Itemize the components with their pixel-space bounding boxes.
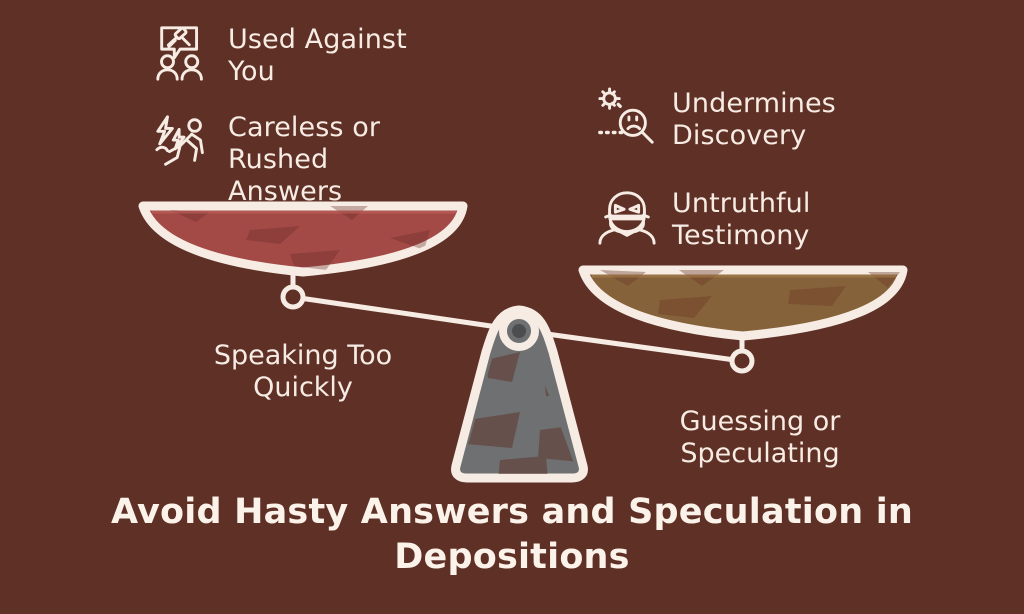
label-guessing-or-speculating: Guessing or Speculating: [630, 406, 890, 471]
right-pan-bowl: [583, 270, 903, 336]
fulcrum-pivot-hole: [512, 324, 526, 338]
running-person-lightning-icon: [152, 110, 214, 172]
right-scale-pan: [583, 268, 903, 336]
right-pan-texture: [600, 268, 900, 318]
left-pan-texture: [170, 206, 430, 270]
page-title: Avoid Hasty Answers and Speculation in D…: [0, 490, 1024, 580]
fulcrum-texture: [466, 352, 586, 480]
item-untruthful-testimony: Untruthful Testimony: [596, 186, 811, 252]
masked-angry-person-icon: [596, 186, 658, 248]
label-speaking-too-quickly: Speaking Too Quickly: [178, 340, 428, 405]
item-label: Used Against You: [228, 22, 407, 88]
item-label: Careless or Rushed Answers: [228, 110, 380, 208]
item-label: Undermines Discovery: [672, 86, 836, 152]
left-pan-bowl: [143, 206, 463, 272]
item-label: Untruthful Testimony: [672, 186, 811, 252]
left-scale-pan: [143, 206, 463, 272]
fulcrum-body: [456, 310, 584, 478]
item-undermines-discovery: Undermines Discovery: [596, 86, 836, 152]
infographic-canvas: Used Against You Careless or Rushed Answ…: [0, 0, 1024, 614]
left-pivot-ring: [283, 287, 303, 307]
right-pivot-ring: [732, 351, 752, 371]
magnifier-sad-face-germ-icon: [596, 86, 658, 148]
beam-right-arm: [518, 330, 742, 361]
gavel-speech-bubble-people-icon: [152, 22, 214, 84]
item-careless-rushed-answers: Careless or Rushed Answers: [152, 110, 380, 208]
item-used-against-you: Used Against You: [152, 22, 407, 88]
fulcrum-pivot-ring: [503, 315, 535, 347]
scale-fulcrum: [456, 310, 586, 480]
beam-left-arm: [293, 297, 518, 330]
